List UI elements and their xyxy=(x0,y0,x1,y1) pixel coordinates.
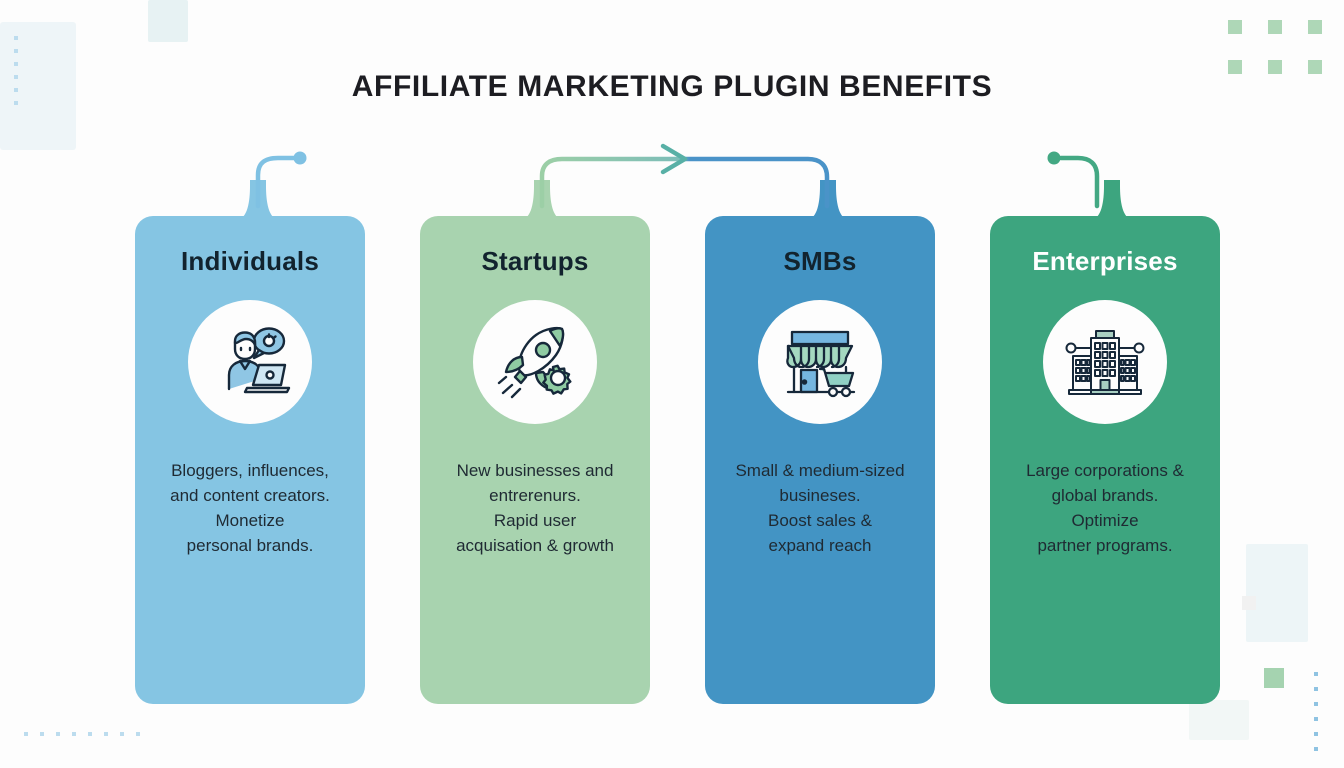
card-individuals[interactable]: Individuals xyxy=(135,216,365,704)
individuals-connector-dot xyxy=(294,152,307,165)
card-title-enterprises: Enterprises xyxy=(1032,246,1177,277)
card-desc-startups: New businesses and entrerenurs. Rapid us… xyxy=(430,458,640,558)
card-startups[interactable]: Startups xyxy=(420,216,650,704)
card-desc-enterprises: Large corporations & global brands. Opti… xyxy=(1000,458,1210,558)
person-laptop-icon xyxy=(207,319,293,405)
storefront-cart-icon xyxy=(776,318,864,406)
icon-circle-startups xyxy=(473,300,597,424)
card-desc-individuals: Bloggers, influences, and content creato… xyxy=(145,458,355,558)
card-title-individuals: Individuals xyxy=(181,246,319,277)
icon-circle-individuals xyxy=(188,300,312,424)
card-title-startups: Startups xyxy=(481,246,588,277)
cards-row: Individuals xyxy=(0,216,1344,706)
icon-circle-smbs xyxy=(758,300,882,424)
enterprises-connector-line xyxy=(1061,158,1097,206)
icon-circle-enterprises xyxy=(1043,300,1167,424)
card-title-smbs: SMBs xyxy=(783,246,856,277)
startups-to-smbs-connector-line xyxy=(542,159,827,206)
card-enterprises[interactable]: Enterprises xyxy=(990,216,1220,704)
enterprises-connector-dot xyxy=(1048,152,1061,165)
card-desc-smbs: Small & medium-sized busineses. Boost sa… xyxy=(715,458,925,558)
card-smbs[interactable]: SMBs xyxy=(705,216,935,704)
office-building-icon xyxy=(1061,318,1149,406)
rocket-gear-icon xyxy=(492,319,578,405)
